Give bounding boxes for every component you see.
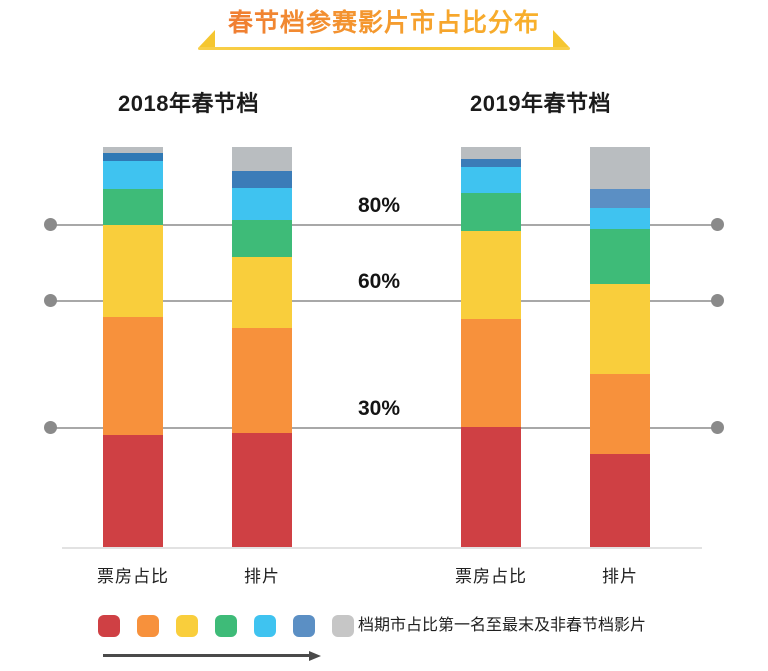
gridline-endpoint-dot-right [711, 294, 724, 307]
stacked-bar [590, 147, 650, 547]
bar-segment [103, 153, 163, 161]
legend-caption: 档期市占比第一名至最末及非春节档影片 [358, 615, 646, 637]
legend-swatch-rank-2 [137, 615, 159, 637]
bar-segment [232, 433, 292, 547]
stacked-bar [103, 147, 163, 547]
bar-segment [590, 374, 650, 454]
rank-direction-arrow-icon [103, 651, 325, 661]
bar-segment [232, 147, 292, 171]
bar-segment [461, 193, 521, 231]
bar-segment [232, 257, 292, 328]
legend-swatch-rank-1 [98, 615, 120, 637]
chart-page: 春节档参赛影片市占比分布 2018年春节档 2019年春节档 80%60%30%… [0, 0, 768, 671]
bar-segment [103, 161, 163, 189]
gridline-label-30: 30% [358, 397, 400, 421]
bar-segment [461, 159, 521, 167]
title-corner-left-icon [199, 30, 215, 47]
bar-segment [590, 147, 650, 189]
bar-segment [590, 229, 650, 284]
stacked-bar [232, 147, 292, 547]
group-heading-2018: 2018年春节档 [118, 86, 259, 118]
group-heading-2019: 2019年春节档 [470, 86, 611, 118]
gridline-endpoint-dot-right [711, 218, 724, 231]
legend-swatch-non-festival [332, 615, 354, 637]
bar-segment [103, 189, 163, 225]
legend-swatch-rank-6 [293, 615, 315, 637]
axis-baseline [62, 547, 702, 549]
bar-segment [461, 427, 521, 547]
gridline-endpoint-dot-left [44, 421, 57, 434]
bar-segment [103, 225, 163, 317]
category-label: 排片 [202, 562, 322, 587]
bar-segment [461, 319, 521, 427]
title-corner-right-icon [553, 30, 569, 47]
bar-segment [232, 328, 292, 433]
category-label: 票房占比 [431, 562, 551, 587]
legend-swatch-rank-4 [215, 615, 237, 637]
stacked-bar [461, 147, 521, 547]
bar-segment [590, 189, 650, 208]
bar-segment [232, 171, 292, 188]
bar-segment [461, 231, 521, 319]
category-label: 票房占比 [73, 562, 193, 587]
legend-swatch-rank-3 [176, 615, 198, 637]
legend [98, 615, 371, 637]
page-title: 春节档参赛影片市占比分布 [0, 6, 768, 40]
bar-segment [590, 208, 650, 229]
legend-swatch-rank-5 [254, 615, 276, 637]
gridline-endpoint-dot-left [44, 294, 57, 307]
bar-segment [103, 317, 163, 435]
title-underline [198, 47, 570, 50]
bar-segment [232, 220, 292, 257]
bar-segment [590, 284, 650, 375]
bar-segment [461, 147, 521, 159]
gridline-endpoint-dot-right [711, 421, 724, 434]
bar-segment [103, 435, 163, 547]
category-label: 排片 [560, 562, 680, 587]
chart-title-bar: 春节档参赛影片市占比分布 [0, 6, 768, 54]
bar-segment [232, 188, 292, 220]
gridline-endpoint-dot-left [44, 218, 57, 231]
bar-segment [461, 167, 521, 193]
gridline-label-80: 80% [358, 194, 400, 218]
arrow-head [309, 651, 321, 661]
arrow-line [103, 654, 311, 657]
bar-segment [590, 454, 650, 547]
gridline-label-60: 60% [358, 270, 400, 294]
